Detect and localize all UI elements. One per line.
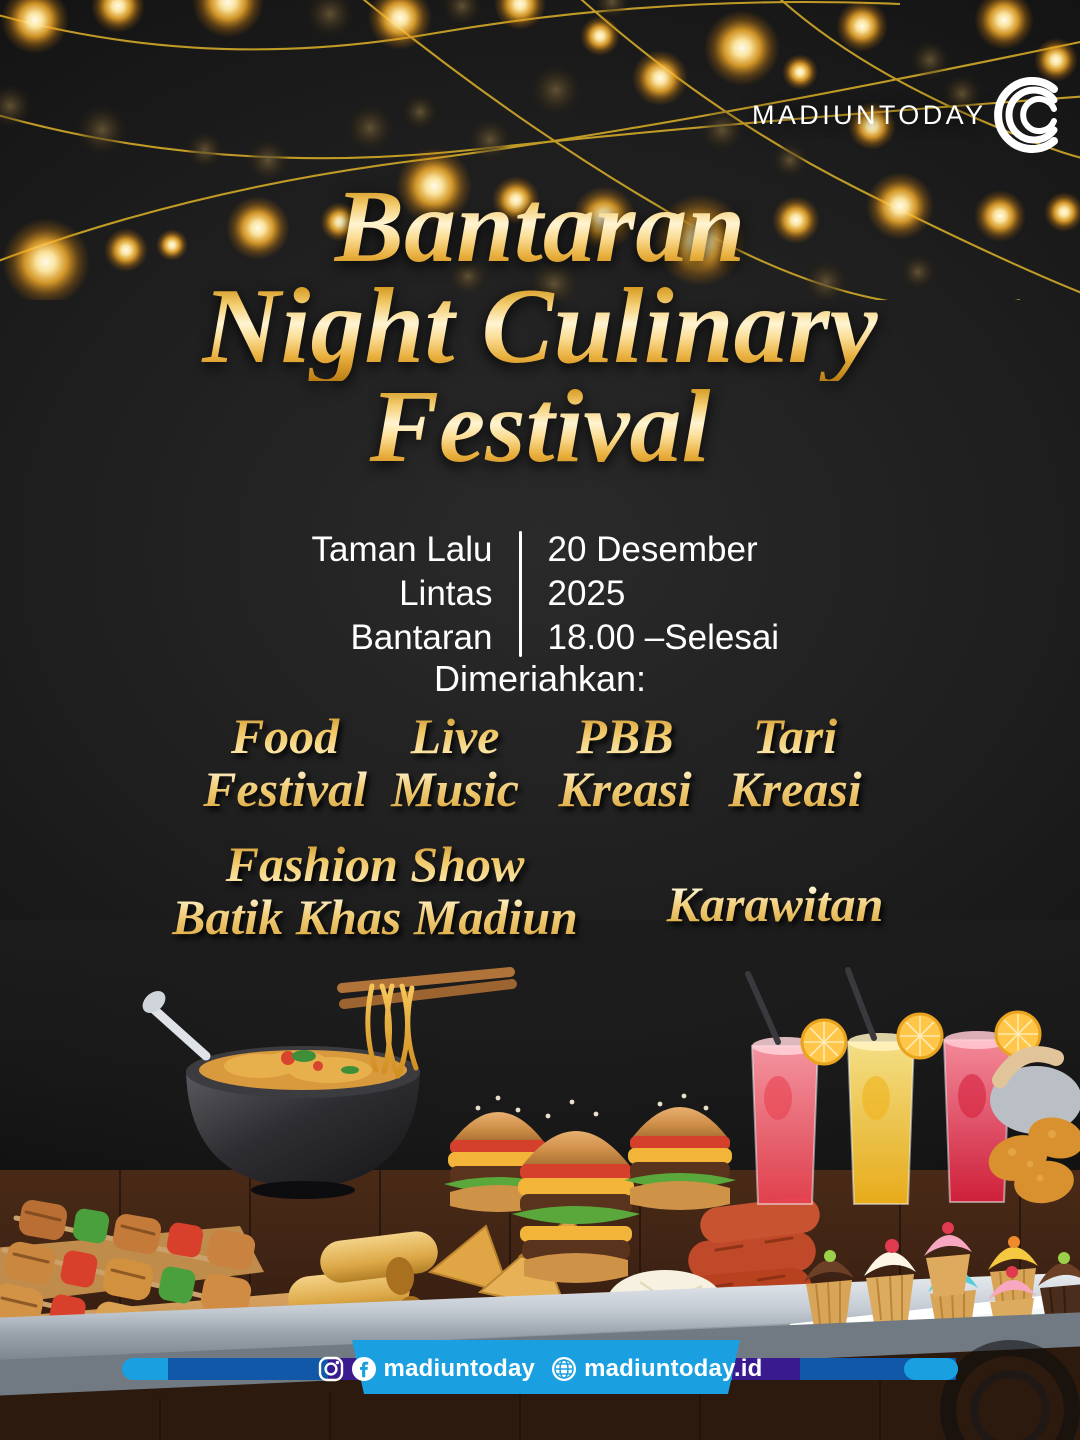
event-title: Bantaran Night Culinary Festival (0, 175, 1080, 478)
poster-root: MADIUNTODAY Bantaran Night Culinary Fest… (0, 0, 1080, 1440)
act-line-1: Live (370, 710, 540, 763)
act-line-1: Tari (710, 710, 880, 763)
act-line-2: Music (370, 763, 540, 816)
title-line-3: Festival (0, 375, 1080, 479)
event-details: Taman Lalu Lintas Bantaran 20 Desember 2… (0, 528, 1080, 660)
act-karawitan: Karawitan (610, 838, 940, 931)
act-line-1: Fashion Show (140, 838, 610, 891)
title-line-1: Bantaran (0, 175, 1080, 279)
act-live-music: Live Music (370, 710, 540, 816)
swirl-crescent-icon (984, 73, 1068, 157)
venue-line-2: Bantaran (249, 616, 493, 660)
act-line-2: Kreasi (710, 763, 880, 816)
lineup-row-1: Food Festival Live Music PBB Kreasi Tari… (0, 710, 1080, 816)
venue-block: Taman Lalu Lintas Bantaran (249, 528, 519, 660)
lineup-heading: Dimeriahkan: (0, 658, 1080, 700)
brand-logo-text: MADIUNTODAY (752, 100, 986, 131)
act-tari-kreasi: Tari Kreasi (710, 710, 880, 816)
lineup-row-2: Fashion Show Batik Khas Madiun Karawitan (0, 838, 1080, 944)
footer-bar: madiuntoday madiuntoday. (0, 1332, 1080, 1406)
act-line-1: Food (200, 710, 370, 763)
act-line-1: PBB (540, 710, 710, 763)
act-line-2: Festival (200, 763, 370, 816)
venue-line-1: Taman Lalu Lintas (249, 528, 493, 616)
datetime-block: 20 Desember 2025 18.00 –Selesai (522, 528, 832, 660)
brand-logo: MADIUNTODAY (752, 72, 1042, 158)
act-food-festival: Food Festival (200, 710, 370, 816)
act-line-1: Karawitan (667, 876, 884, 932)
event-date: 20 Desember 2025 (548, 528, 832, 616)
event-time: 18.00 –Selesai (548, 616, 832, 660)
act-fashion-show: Fashion Show Batik Khas Madiun (140, 838, 610, 944)
act-line-2: Batik Khas Madiun (140, 891, 610, 944)
act-line-2: Kreasi (540, 763, 710, 816)
act-pbb-kreasi: PBB Kreasi (540, 710, 710, 816)
title-line-2: Night Culinary (0, 273, 1080, 381)
